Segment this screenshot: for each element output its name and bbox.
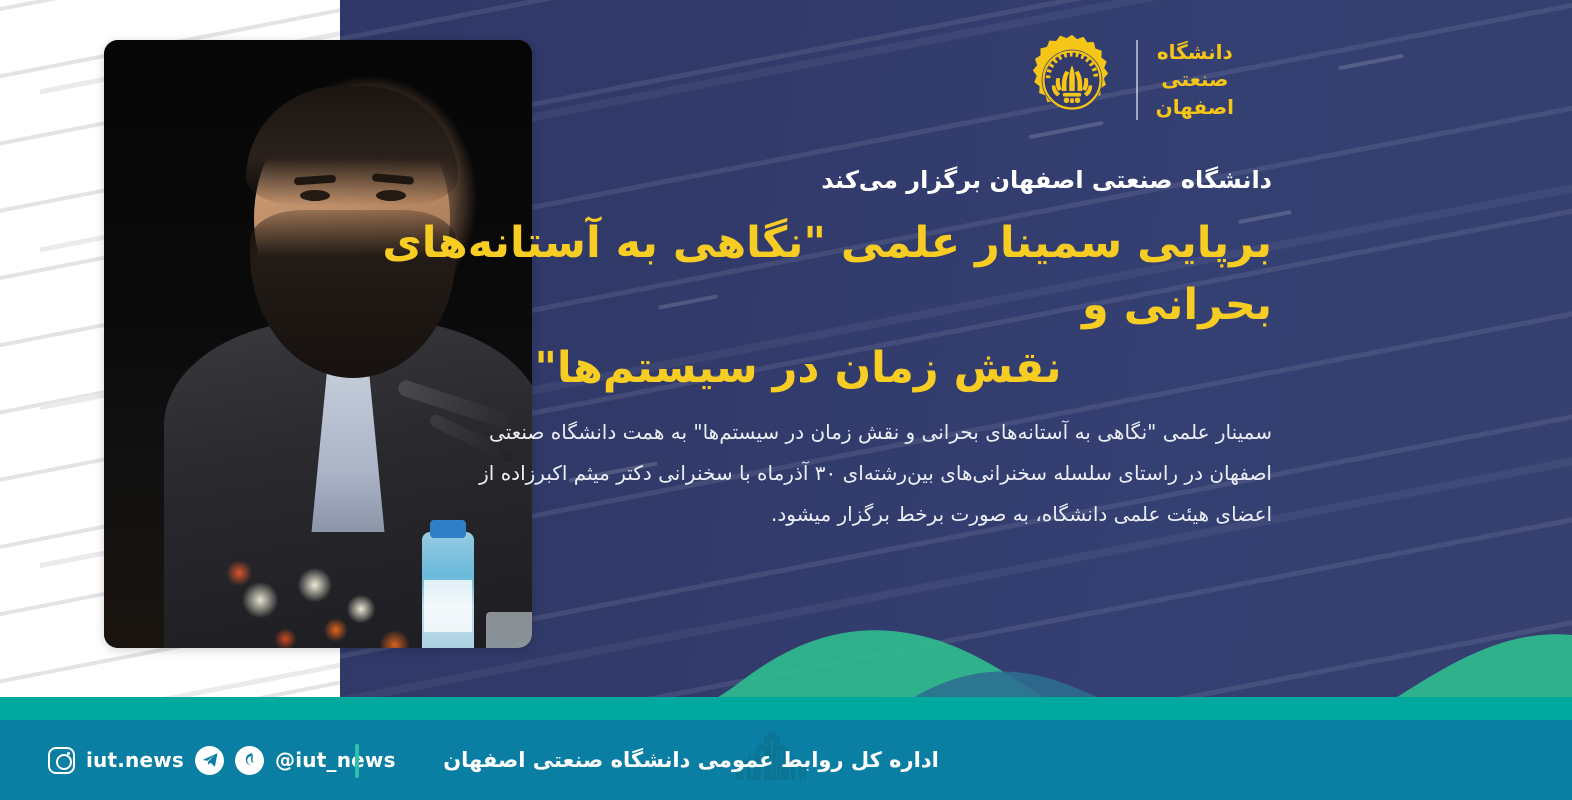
page-title: برپایی سمینار علمی "نگاهی به آستانه‌های … — [372, 212, 1272, 399]
university-logo: دانشگاه صنعتی اصفهان — [1026, 34, 1234, 126]
iut-gear-emblem-icon — [1026, 34, 1118, 126]
bale-icon[interactable] — [235, 746, 264, 775]
photo-eye-left — [300, 190, 330, 201]
instagram-icon[interactable] — [48, 747, 75, 774]
social-links: iut.news @iut_news — [48, 720, 396, 800]
messaging-handle[interactable]: @iut_news — [275, 748, 396, 772]
poster-canvas: دانشگاه صنعتی اصفهان — [0, 0, 1572, 800]
title-line-2: نقش زمان در سیستم‌ها" — [372, 337, 1272, 399]
body-paragraph: سمینار علمی "نگاهی به آستانه‌های بحرانی … — [452, 412, 1272, 535]
footer-content: اداره کل روابط عمومی دانشگاه صنعتی اصفها… — [0, 720, 1572, 800]
photo-eye-right — [376, 190, 406, 201]
footer-divider — [355, 744, 359, 778]
logo-line-1: دانشگاه — [1156, 39, 1234, 67]
organization-text: اداره کل روابط عمومی دانشگاه صنعتی اصفها… — [443, 748, 939, 772]
logo-divider — [1136, 40, 1138, 120]
logo-line-2: صنعتی — [1156, 66, 1234, 94]
telegram-icon[interactable] — [195, 746, 224, 775]
university-name-text: دانشگاه صنعتی اصفهان — [1156, 39, 1234, 122]
kicker-text: دانشگاه صنعتی اصفهان برگزار می‌کند — [821, 166, 1272, 194]
logo-line-3: اصفهان — [1156, 94, 1234, 122]
title-line-1: برپایی سمینار علمی "نگاهی به آستانه‌های … — [372, 212, 1272, 337]
instagram-handle[interactable]: iut.news — [86, 748, 184, 772]
